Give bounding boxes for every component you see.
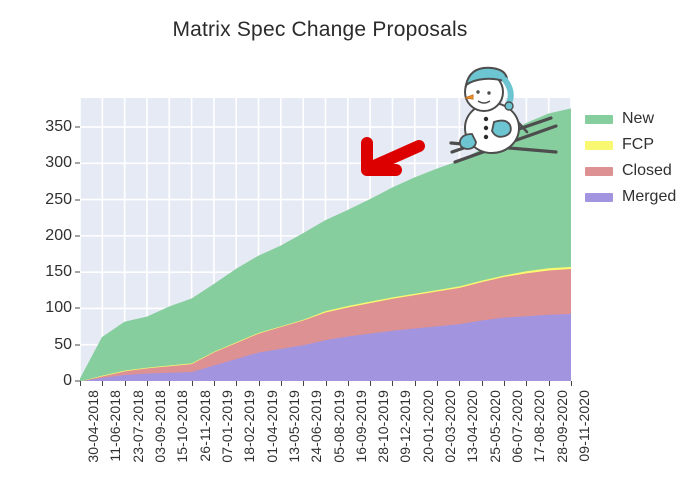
legend-swatch-new	[585, 115, 613, 124]
x-tick-mark	[482, 381, 483, 386]
x-tick-mark	[571, 381, 572, 386]
x-tick-mark	[192, 381, 193, 386]
x-tick-mark	[392, 381, 393, 386]
y-tick-label: 150	[12, 263, 72, 281]
legend-item-new[interactable]: New	[585, 106, 700, 132]
x-tick-mark	[526, 381, 527, 386]
x-tick-mark	[504, 381, 505, 386]
x-tick-label: 15-10-2018	[174, 390, 190, 463]
legend: New FCP Closed Merged	[585, 106, 700, 210]
legend-label: New	[622, 110, 654, 128]
x-tick-mark	[259, 381, 260, 386]
x-tick-label: 03-09-2018	[152, 390, 168, 463]
x-tick-label: 24-06-2019	[308, 390, 324, 463]
legend-item-merged[interactable]: Merged	[585, 184, 700, 210]
x-tick-label: 16-09-2019	[353, 390, 369, 463]
chart-figure: Matrix Spec Change Proposals 05010015020…	[0, 0, 700, 500]
legend-label: Closed	[622, 162, 672, 180]
x-tick-mark	[326, 381, 327, 386]
x-tick-label: 26-11-2018	[197, 390, 213, 462]
x-tick-label: 05-08-2019	[331, 390, 347, 463]
plot-area	[80, 98, 571, 381]
legend-swatch-merged	[585, 193, 613, 202]
x-tick-mark	[415, 381, 416, 386]
x-tick-label: 02-03-2020	[442, 390, 458, 463]
x-tick-label: 28-09-2020	[554, 390, 570, 463]
x-tick-label: 06-07-2020	[509, 390, 525, 463]
x-tick-label: 23-07-2018	[130, 390, 146, 463]
legend-label: Merged	[622, 188, 676, 206]
x-tick-label: 11-06-2018	[107, 390, 123, 462]
x-tick-mark	[437, 381, 438, 386]
y-tick-label: 0	[12, 372, 72, 390]
y-tick-label: 100	[12, 299, 72, 317]
x-tick-mark	[147, 381, 148, 386]
y-tick-label: 50	[12, 336, 72, 354]
x-tick-label: 17-08-2020	[531, 390, 547, 463]
x-tick-label: 13-05-2019	[286, 390, 302, 463]
x-tick-label: 13-04-2020	[464, 390, 480, 463]
y-tick-label: 300	[12, 154, 72, 172]
legend-item-closed[interactable]: Closed	[585, 158, 700, 184]
x-tick-mark	[80, 381, 81, 386]
legend-swatch-closed	[585, 167, 613, 176]
x-tick-label: 07-01-2019	[219, 390, 235, 463]
x-tick-mark	[459, 381, 460, 386]
x-tick-mark	[125, 381, 126, 386]
x-tick-mark	[236, 381, 237, 386]
x-tick-mark	[281, 381, 282, 386]
legend-item-fcp[interactable]: FCP	[585, 132, 700, 158]
x-tick-mark	[169, 381, 170, 386]
x-tick-label: 20-01-2020	[420, 390, 436, 463]
y-tick-label: 250	[12, 191, 72, 209]
x-tick-label: 28-10-2019	[375, 390, 391, 463]
x-tick-label: 25-05-2020	[487, 390, 503, 463]
x-tick-label: 30-04-2018	[85, 390, 101, 463]
y-tick-label: 200	[12, 227, 72, 245]
x-tick-label: 18-02-2019	[241, 390, 257, 463]
legend-swatch-fcp	[585, 141, 613, 150]
x-tick-mark	[370, 381, 371, 386]
x-tick-label: 09-11-2020	[576, 390, 592, 462]
y-tick-label: 350	[12, 118, 72, 136]
legend-label: FCP	[622, 136, 654, 154]
x-tick-mark	[549, 381, 550, 386]
x-tick-label: 01-04-2019	[264, 390, 280, 463]
x-tick-mark	[102, 381, 103, 386]
x-tick-mark	[303, 381, 304, 386]
x-tick-mark	[214, 381, 215, 386]
x-tick-mark	[348, 381, 349, 386]
x-tick-label: 09-12-2019	[397, 390, 413, 463]
stacked-area-series	[80, 98, 571, 381]
